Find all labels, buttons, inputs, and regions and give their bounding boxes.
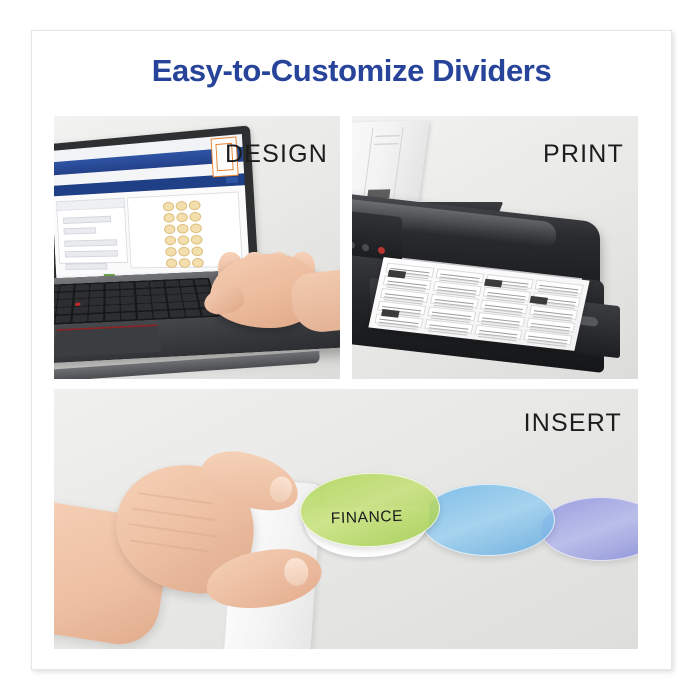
panel-label-print: PRINT [543, 140, 624, 169]
dialog-field [64, 227, 97, 234]
panel-label-insert: INSERT [524, 409, 622, 438]
panel-label-design: DESIGN [225, 140, 328, 169]
product-card: Easy-to-Customize Dividers [31, 30, 672, 670]
tab-template-grid [163, 200, 204, 268]
hand-inserting-label [54, 429, 354, 649]
hand-on-keyboard [206, 244, 340, 344]
dialog-field [64, 239, 117, 247]
panel-insert: FINANCE INSERT [54, 389, 638, 649]
printer-illustration [352, 140, 638, 379]
blue-tab [421, 484, 555, 556]
design-dialog [56, 198, 128, 264]
panel-print: PRINT [352, 116, 638, 379]
panel-design: DESIGN [54, 116, 340, 379]
dialog-field [65, 263, 107, 270]
page-title: Easy-to-Customize Dividers [32, 53, 671, 89]
laptop-trackpad[interactable] [54, 324, 161, 357]
printer-power-indicator [378, 247, 385, 255]
printer-button[interactable] [352, 241, 355, 249]
toolbar-button[interactable] [226, 177, 238, 184]
dialog-field [63, 216, 111, 224]
dialog-field [65, 250, 118, 257]
printer-button[interactable] [362, 244, 369, 252]
product-image: Easy-to-Customize Dividers [0, 0, 700, 700]
dialog-header [57, 199, 124, 211]
